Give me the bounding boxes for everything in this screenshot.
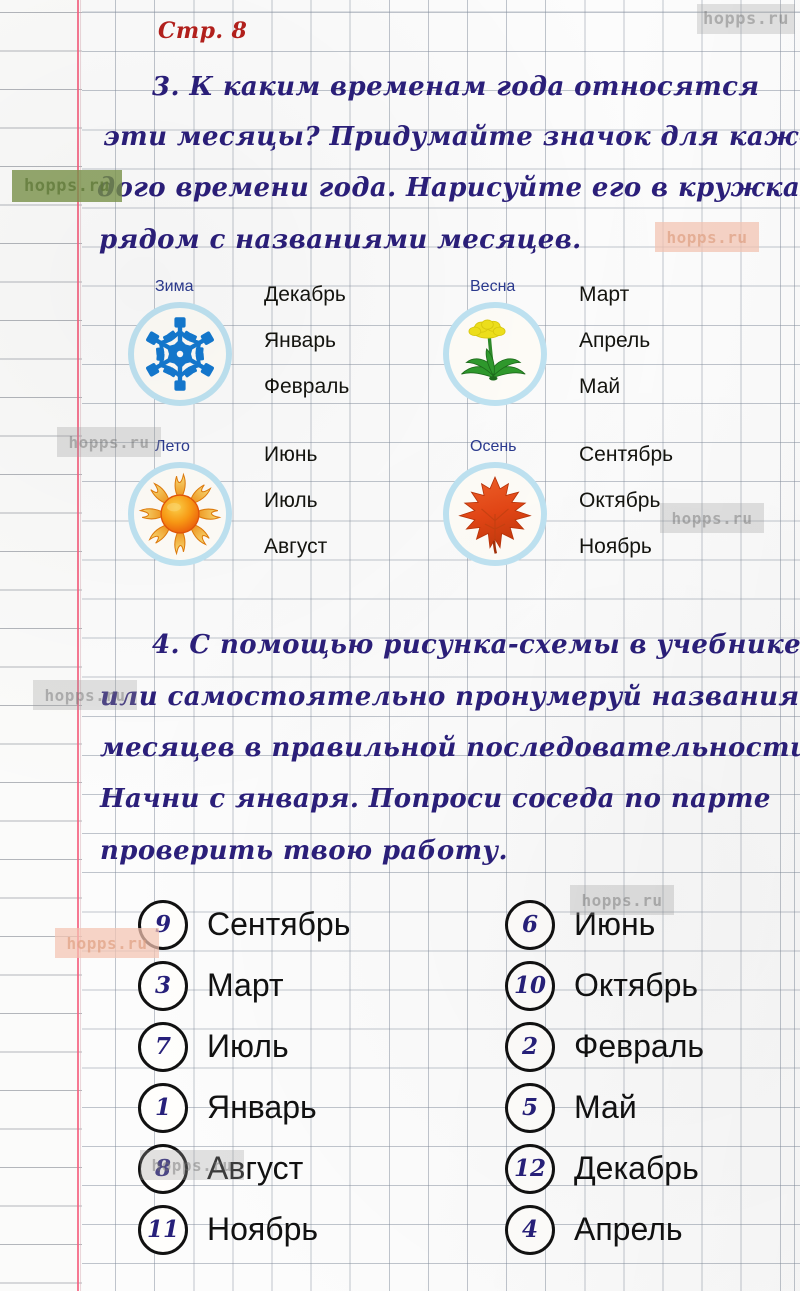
- season-label-spring: Весна: [470, 278, 515, 296]
- number-value: 4: [522, 1218, 538, 1241]
- lined-margin-paper: [0, 0, 82, 1291]
- season-months-winter: Декабрь Январь Февраль: [264, 284, 349, 422]
- number-value: 3: [155, 974, 171, 997]
- snowflake-icon: [140, 314, 220, 394]
- season-badge-autumn: [443, 462, 547, 566]
- numbered-month-row[interactable]: 5 Май: [505, 1077, 704, 1138]
- numbered-months-right-column: 6 Июнь 10 Октябрь 2 Февраль 5 Май 12: [505, 894, 704, 1260]
- season-months-autumn: Сентябрь Октябрь Ноябрь: [579, 444, 673, 582]
- number-circle[interactable]: 3: [138, 961, 188, 1011]
- season-label-summer: Лето: [155, 438, 190, 456]
- season-block-spring: Весна: [443, 278, 763, 438]
- season-badge-summer: [128, 462, 232, 566]
- task3-line-4: рядом с названиями месяцев.: [99, 225, 582, 255]
- task3-line-3: дого времени года. Нарисуйте его в кружк…: [97, 173, 800, 203]
- numbered-month-row[interactable]: 9 Сентябрь: [138, 894, 350, 955]
- number-value: 2: [522, 1035, 538, 1058]
- number-value: 10: [514, 974, 546, 997]
- number-circle[interactable]: 5: [505, 1083, 555, 1133]
- task3-line-2: эти месяцы? Придумайте значок для каж-: [103, 122, 800, 152]
- month-name: Май: [579, 376, 650, 397]
- month-label: Октябрь: [574, 967, 698, 1004]
- numbered-month-row[interactable]: 8 Август: [138, 1138, 350, 1199]
- month-name: Сентябрь: [579, 444, 673, 465]
- month-label: Ноябрь: [207, 1211, 318, 1248]
- month-name: Июнь: [264, 444, 327, 465]
- month-name: Июль: [264, 490, 327, 511]
- month-label: Январь: [207, 1089, 317, 1126]
- month-name: Январь: [264, 330, 349, 351]
- number-value: 9: [155, 913, 171, 936]
- season-badge-spring: [443, 302, 547, 406]
- season-label-winter: Зима: [155, 278, 194, 296]
- number-circle[interactable]: 9: [138, 900, 188, 950]
- number-circle[interactable]: 4: [505, 1205, 555, 1255]
- month-name: Март: [579, 284, 650, 305]
- sun-icon: [137, 471, 223, 557]
- number-circle[interactable]: 7: [138, 1022, 188, 1072]
- month-label: Декабрь: [574, 1150, 699, 1187]
- season-label-autumn: Осень: [470, 438, 517, 456]
- month-name: Ноябрь: [579, 536, 673, 557]
- notebook-page: Стр. 8 3. К каким временам года относятс…: [0, 0, 800, 1291]
- number-value: 1: [155, 1096, 171, 1119]
- number-circle[interactable]: 8: [138, 1144, 188, 1194]
- numbered-month-row[interactable]: 11 Ноябрь: [138, 1199, 350, 1260]
- number-value: 5: [522, 1096, 538, 1119]
- number-circle[interactable]: 1: [138, 1083, 188, 1133]
- month-name: Август: [264, 536, 327, 557]
- season-block-winter: Зима: [128, 278, 448, 438]
- numbered-month-row[interactable]: 12 Декабрь: [505, 1138, 704, 1199]
- month-name: Октябрь: [579, 490, 673, 511]
- season-months-spring: Март Апрель Май: [579, 284, 650, 422]
- task4-line-3: месяцев в правильной последовательности.: [100, 733, 800, 763]
- task4-line-1: 4. С помощью рисунка-схемы в учебнике: [152, 630, 800, 660]
- season-months-summer: Июнь Июль Август: [264, 444, 327, 582]
- number-value: 12: [514, 1157, 546, 1180]
- number-circle[interactable]: 11: [138, 1205, 188, 1255]
- number-value: 8: [155, 1157, 171, 1180]
- number-circle[interactable]: 2: [505, 1022, 555, 1072]
- number-circle[interactable]: 10: [505, 961, 555, 1011]
- number-value: 6: [522, 913, 538, 936]
- season-block-summer: Лето: [128, 438, 448, 603]
- numbered-months-left-column: 9 Сентябрь 3 Март 7 Июль 1 Январь 8: [138, 894, 350, 1260]
- dandelion-flower-icon: [453, 312, 537, 396]
- month-label: Август: [207, 1150, 303, 1187]
- month-name: Декабрь: [264, 284, 349, 305]
- margin-rule-line: [77, 0, 79, 1291]
- month-label: Июль: [207, 1028, 289, 1065]
- month-name: Февраль: [264, 376, 349, 397]
- number-circle[interactable]: 6: [505, 900, 555, 950]
- page-number-marker: Стр. 8: [158, 18, 247, 44]
- numbered-month-row[interactable]: 1 Январь: [138, 1077, 350, 1138]
- month-label: Сентябрь: [207, 906, 350, 943]
- month-label: Март: [207, 967, 284, 1004]
- margin-rule-shadow: [80, 0, 81, 1291]
- maple-leaf-icon: [453, 472, 537, 556]
- numbered-month-row[interactable]: 6 Июнь: [505, 894, 704, 955]
- numbered-month-row[interactable]: 7 Июль: [138, 1016, 350, 1077]
- month-label: Февраль: [574, 1028, 704, 1065]
- numbered-month-row[interactable]: 3 Март: [138, 955, 350, 1016]
- month-label: Май: [574, 1089, 637, 1126]
- numbered-month-row[interactable]: 10 Октябрь: [505, 955, 704, 1016]
- task4-line-5: проверить твою работу.: [100, 836, 508, 866]
- month-name: Апрель: [579, 330, 650, 351]
- season-block-autumn: Осень Сентябрь Октябрь Ноябрь: [443, 438, 773, 603]
- number-circle[interactable]: 12: [505, 1144, 555, 1194]
- number-value: 7: [155, 1035, 171, 1058]
- task4-line-2: или самостоятельно пронумеруй названия: [100, 682, 800, 712]
- numbered-month-row[interactable]: 2 Февраль: [505, 1016, 704, 1077]
- month-label: Апрель: [574, 1211, 683, 1248]
- task4-line-4: Начни с января. Попроси соседа по парте: [100, 784, 771, 814]
- numbered-month-row[interactable]: 4 Апрель: [505, 1199, 704, 1260]
- task3-line-1: 3. К каким временам года относятся: [152, 72, 760, 102]
- month-label: Июнь: [574, 906, 655, 943]
- season-badge-winter: [128, 302, 232, 406]
- number-value: 11: [147, 1218, 179, 1241]
